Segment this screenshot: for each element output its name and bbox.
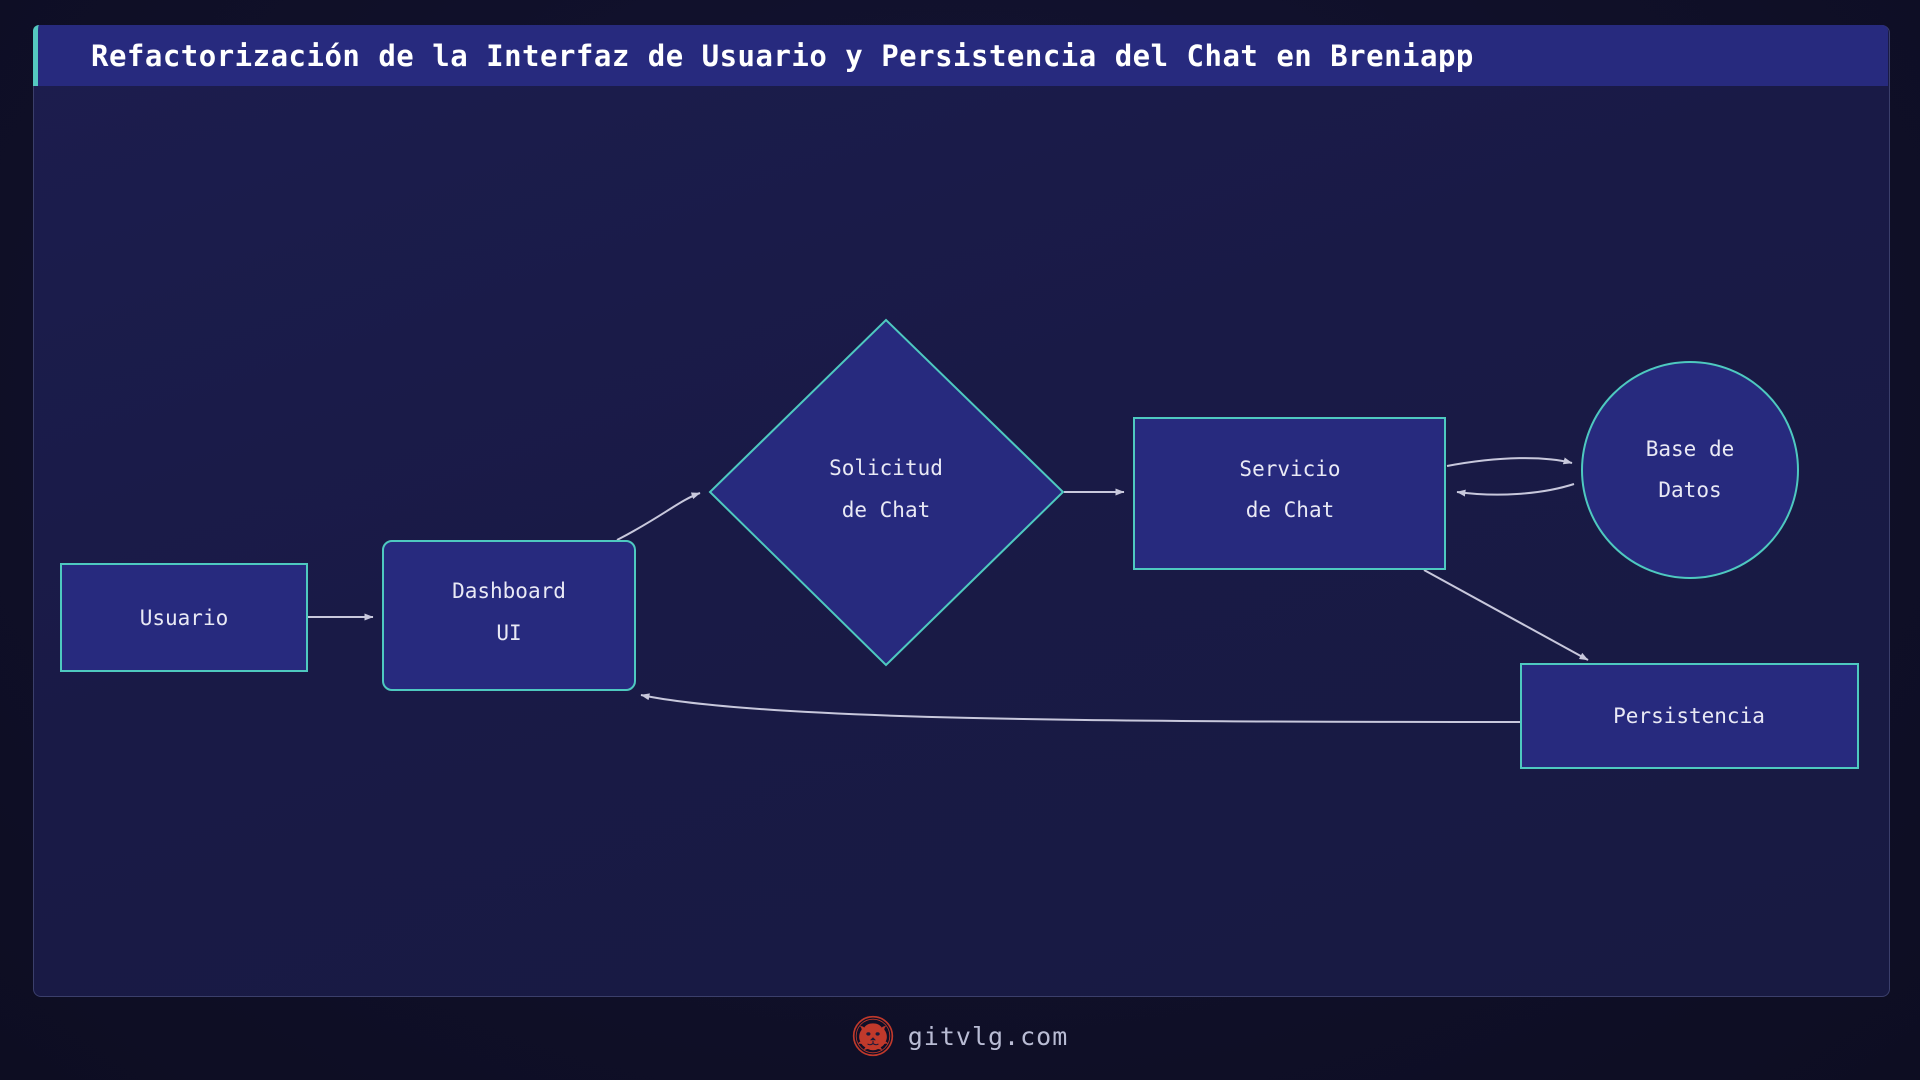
node-servicio-de-chat-label-line2: de Chat — [1246, 498, 1335, 522]
edge-servicio-to-basedatos — [1447, 458, 1572, 466]
edge-dashboard-to-solicitud — [617, 493, 700, 540]
node-dashboard-ui-label-line1: Dashboard — [452, 579, 566, 603]
node-base-de-datos-shape — [1582, 362, 1798, 578]
diagram-svg: Usuario Dashboard UI Solicitud de Chat S… — [0, 0, 1920, 1080]
node-solicitud-de-chat-label-line1: Solicitud — [829, 456, 943, 480]
node-solicitud-de-chat-shape — [710, 320, 1063, 665]
lion-logo-icon — [852, 1015, 894, 1057]
node-persistencia[interactable]: Persistencia — [1521, 664, 1858, 768]
node-solicitud-de-chat-label-line2: de Chat — [842, 498, 931, 522]
node-servicio-de-chat[interactable]: Servicio de Chat — [1134, 418, 1445, 569]
node-dashboard-ui[interactable]: Dashboard UI — [383, 541, 635, 690]
diagram-page: Refactorización de la Interfaz de Usuari… — [0, 0, 1920, 1080]
node-dashboard-ui-label-line2: UI — [496, 621, 521, 645]
node-servicio-de-chat-shape — [1134, 418, 1445, 569]
node-base-de-datos-label-line1: Base de — [1646, 437, 1735, 461]
node-dashboard-ui-shape — [383, 541, 635, 690]
node-usuario[interactable]: Usuario — [61, 564, 307, 671]
node-persistencia-label: Persistencia — [1613, 704, 1765, 728]
edge-basedatos-to-servicio — [1457, 484, 1574, 495]
edge-servicio-to-persistencia — [1424, 570, 1588, 660]
node-base-de-datos[interactable]: Base de Datos — [1582, 362, 1798, 578]
node-base-de-datos-label-line2: Datos — [1658, 478, 1721, 502]
node-usuario-label: Usuario — [140, 606, 229, 630]
node-layer: Usuario Dashboard UI Solicitud de Chat S… — [61, 320, 1858, 768]
watermark-text: gitvlg.com — [908, 1022, 1069, 1051]
footer-watermark: gitvlg.com — [0, 1015, 1920, 1057]
node-solicitud-de-chat[interactable]: Solicitud de Chat — [710, 320, 1063, 665]
edge-persistencia-to-dashboard — [641, 695, 1520, 722]
node-servicio-de-chat-label-line1: Servicio — [1239, 457, 1340, 481]
